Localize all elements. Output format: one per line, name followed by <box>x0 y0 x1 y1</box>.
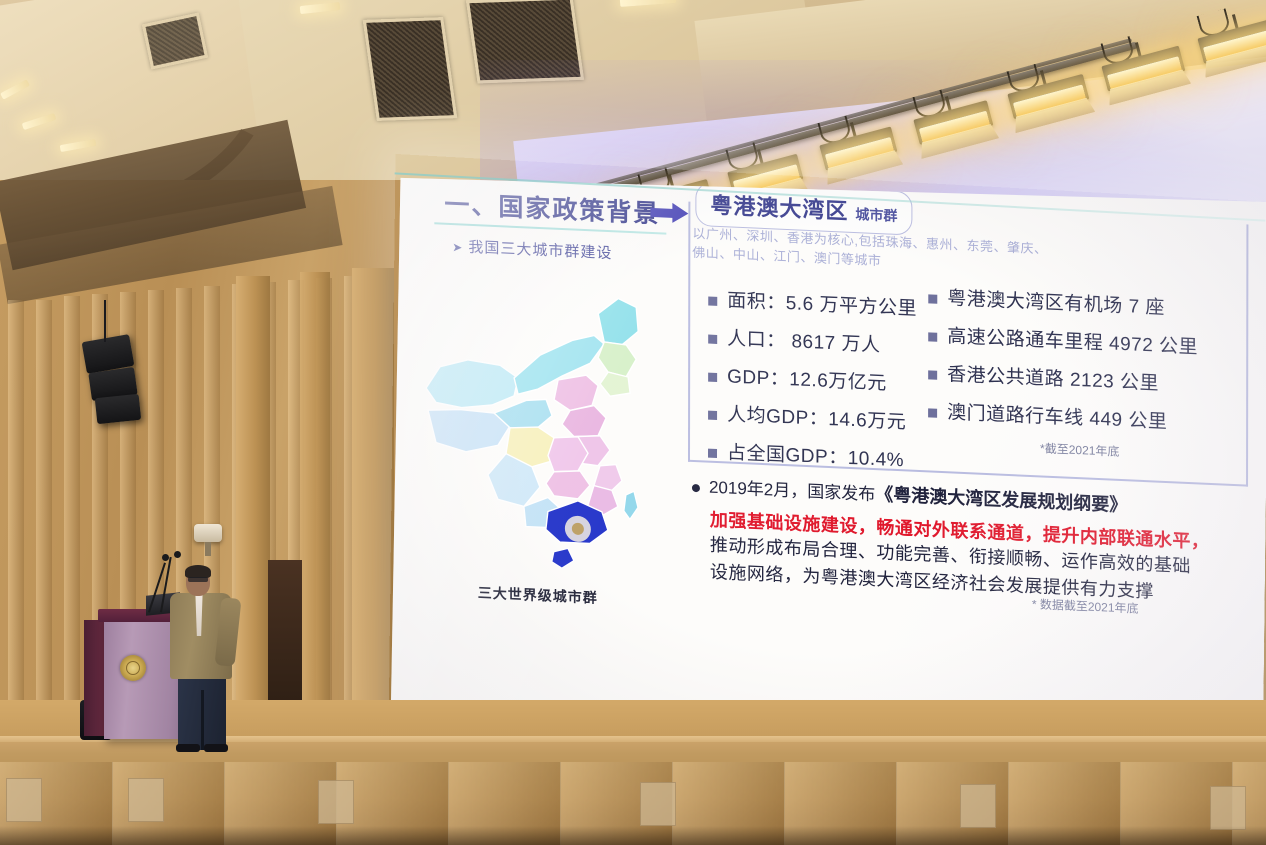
stage-vent-6 <box>1210 786 1246 830</box>
list-item: 高速公路通车里程 4972 公里 <box>928 320 1198 359</box>
wall-pillar-right <box>352 268 394 708</box>
china-provinces-map <box>422 270 672 581</box>
stage-vent-4 <box>640 782 676 826</box>
bullet-square <box>708 411 717 420</box>
line-array-speaker-3 <box>95 394 141 424</box>
arrow-shaft <box>650 208 674 218</box>
stat-left-2: GDP：12.6万亿元 <box>727 361 887 395</box>
wall-camera-bracket <box>205 542 211 556</box>
stage-vent-1 <box>6 778 42 822</box>
stat-right-2: 香港公共道路 2123 公里 <box>947 359 1159 395</box>
bullet-square <box>928 408 937 417</box>
list-item: GDP：12.6万亿元 <box>708 361 917 397</box>
pointer-arrow-icon <box>650 202 688 224</box>
list-item: 人均GDP：14.6万元 <box>708 399 917 435</box>
speaker-rigging-wire <box>104 300 106 342</box>
projected-slide: 一、国家政策背景 ➤我国三大城市群建设 粤港澳大湾区城市群 <box>388 154 1266 792</box>
stats-left-list: 面积：5.6 万平方公里 人口： 8617 万人 GDP：12.6万亿元 人均G… <box>708 285 917 484</box>
slide-subtitle: ➤我国三大城市群建设 <box>452 235 612 263</box>
ceiling-vent-1 <box>363 17 458 121</box>
stage-vent-3 <box>318 780 354 824</box>
wall-slat-2 <box>36 300 52 700</box>
list-item: 粤港澳大湾区有机场 7 座 <box>928 282 1198 321</box>
wall-pillar-left <box>236 276 270 706</box>
auditorium-photo: 一、国家政策背景 ➤我国三大城市群建设 粤港澳大湾区城市群 <box>0 0 1266 845</box>
header-description: 以广州、深圳、香港为核心,包括珠海、惠州、东莞、肇庆、 佛山、中山、江门、澳门等… <box>692 224 1047 278</box>
stat-right-0: 粤港澳大湾区有机场 7 座 <box>947 283 1165 320</box>
wall-pillar-mid <box>300 272 330 706</box>
foreground-shadow <box>0 826 1266 845</box>
slide-footnote: * 数据截至2021年底 <box>1032 595 1139 617</box>
stage-vent-2 <box>128 778 164 822</box>
bullet-square <box>708 449 717 458</box>
arrow-head <box>672 203 688 224</box>
bullet-square <box>928 332 937 341</box>
stat-left-4: 占全国GDP：10.4% <box>727 437 904 472</box>
list-item: 澳门道路行车线 449 公里 <box>928 396 1198 435</box>
ceiling-vent-2 <box>466 0 584 83</box>
callout-connector-left <box>688 202 690 462</box>
bullet-dot <box>692 484 700 492</box>
bullet-square <box>708 335 717 344</box>
list-item: 面积：5.6 万平方公里 <box>708 285 917 321</box>
wall-recess-dark <box>268 560 302 710</box>
callout-connector-right <box>1246 224 1248 486</box>
stat-left-1: 人口： 8617 万人 <box>727 323 880 357</box>
stats-right-list: 粤港澳大湾区有机场 7 座 高速公路通车里程 4972 公里 香港公共道路 21… <box>928 282 1198 446</box>
stage-vent-5 <box>960 784 996 828</box>
stat-left-0: 面积：5.6 万平方公里 <box>727 285 917 320</box>
list-item: 香港公共道路 2123 公里 <box>928 358 1198 397</box>
caret-icon: ➤ <box>452 240 463 254</box>
bullet-square <box>708 373 717 382</box>
list-item: 人口： 8617 万人 <box>708 323 917 359</box>
speaker-shoe-right <box>204 744 228 752</box>
policy-paragraph: 2019年2月，国家发布 《粤港澳大湾区发展规划纲要》 加强基础设施建设，畅通对… <box>692 472 1252 610</box>
microphone-head-2 <box>174 551 181 558</box>
bullet-square <box>928 294 937 303</box>
microphone-head-1 <box>162 554 169 561</box>
bullet-square <box>708 297 717 306</box>
speaker-glasses <box>188 577 208 582</box>
projection-screen: 一、国家政策背景 ➤我国三大城市群建设 粤港澳大湾区城市群 <box>388 154 1266 792</box>
speaker-leg-gap <box>201 690 204 750</box>
stat-left-3: 人均GDP：14.6万元 <box>727 399 906 434</box>
slide-content: 一、国家政策背景 ➤我国三大城市群建设 粤港澳大湾区城市群 <box>392 158 1266 787</box>
bullet-square <box>928 370 937 379</box>
header-suffix-label: 城市群 <box>855 206 897 224</box>
map-caption: 三大世界级城市群 <box>478 582 598 607</box>
paragraph-document-title: 《粤港澳大湾区发展规划纲要》 <box>875 480 1127 517</box>
stat-right-1: 高速公路通车里程 4972 公里 <box>947 321 1198 359</box>
wall-camera <box>194 524 222 542</box>
slide-subtitle-label: 我国三大城市群建设 <box>468 239 612 262</box>
stat-right-3: 澳门道路行车线 449 公里 <box>947 397 1167 434</box>
podium-emblem <box>120 655 146 681</box>
wall-slat-1 <box>8 300 24 700</box>
speaker-shoe-left <box>176 744 200 752</box>
stats-right-note: *截至2021年底 <box>1040 439 1119 460</box>
wall-slat-3 <box>64 296 80 700</box>
list-item: 占全国GDP：10.4% <box>708 437 917 473</box>
